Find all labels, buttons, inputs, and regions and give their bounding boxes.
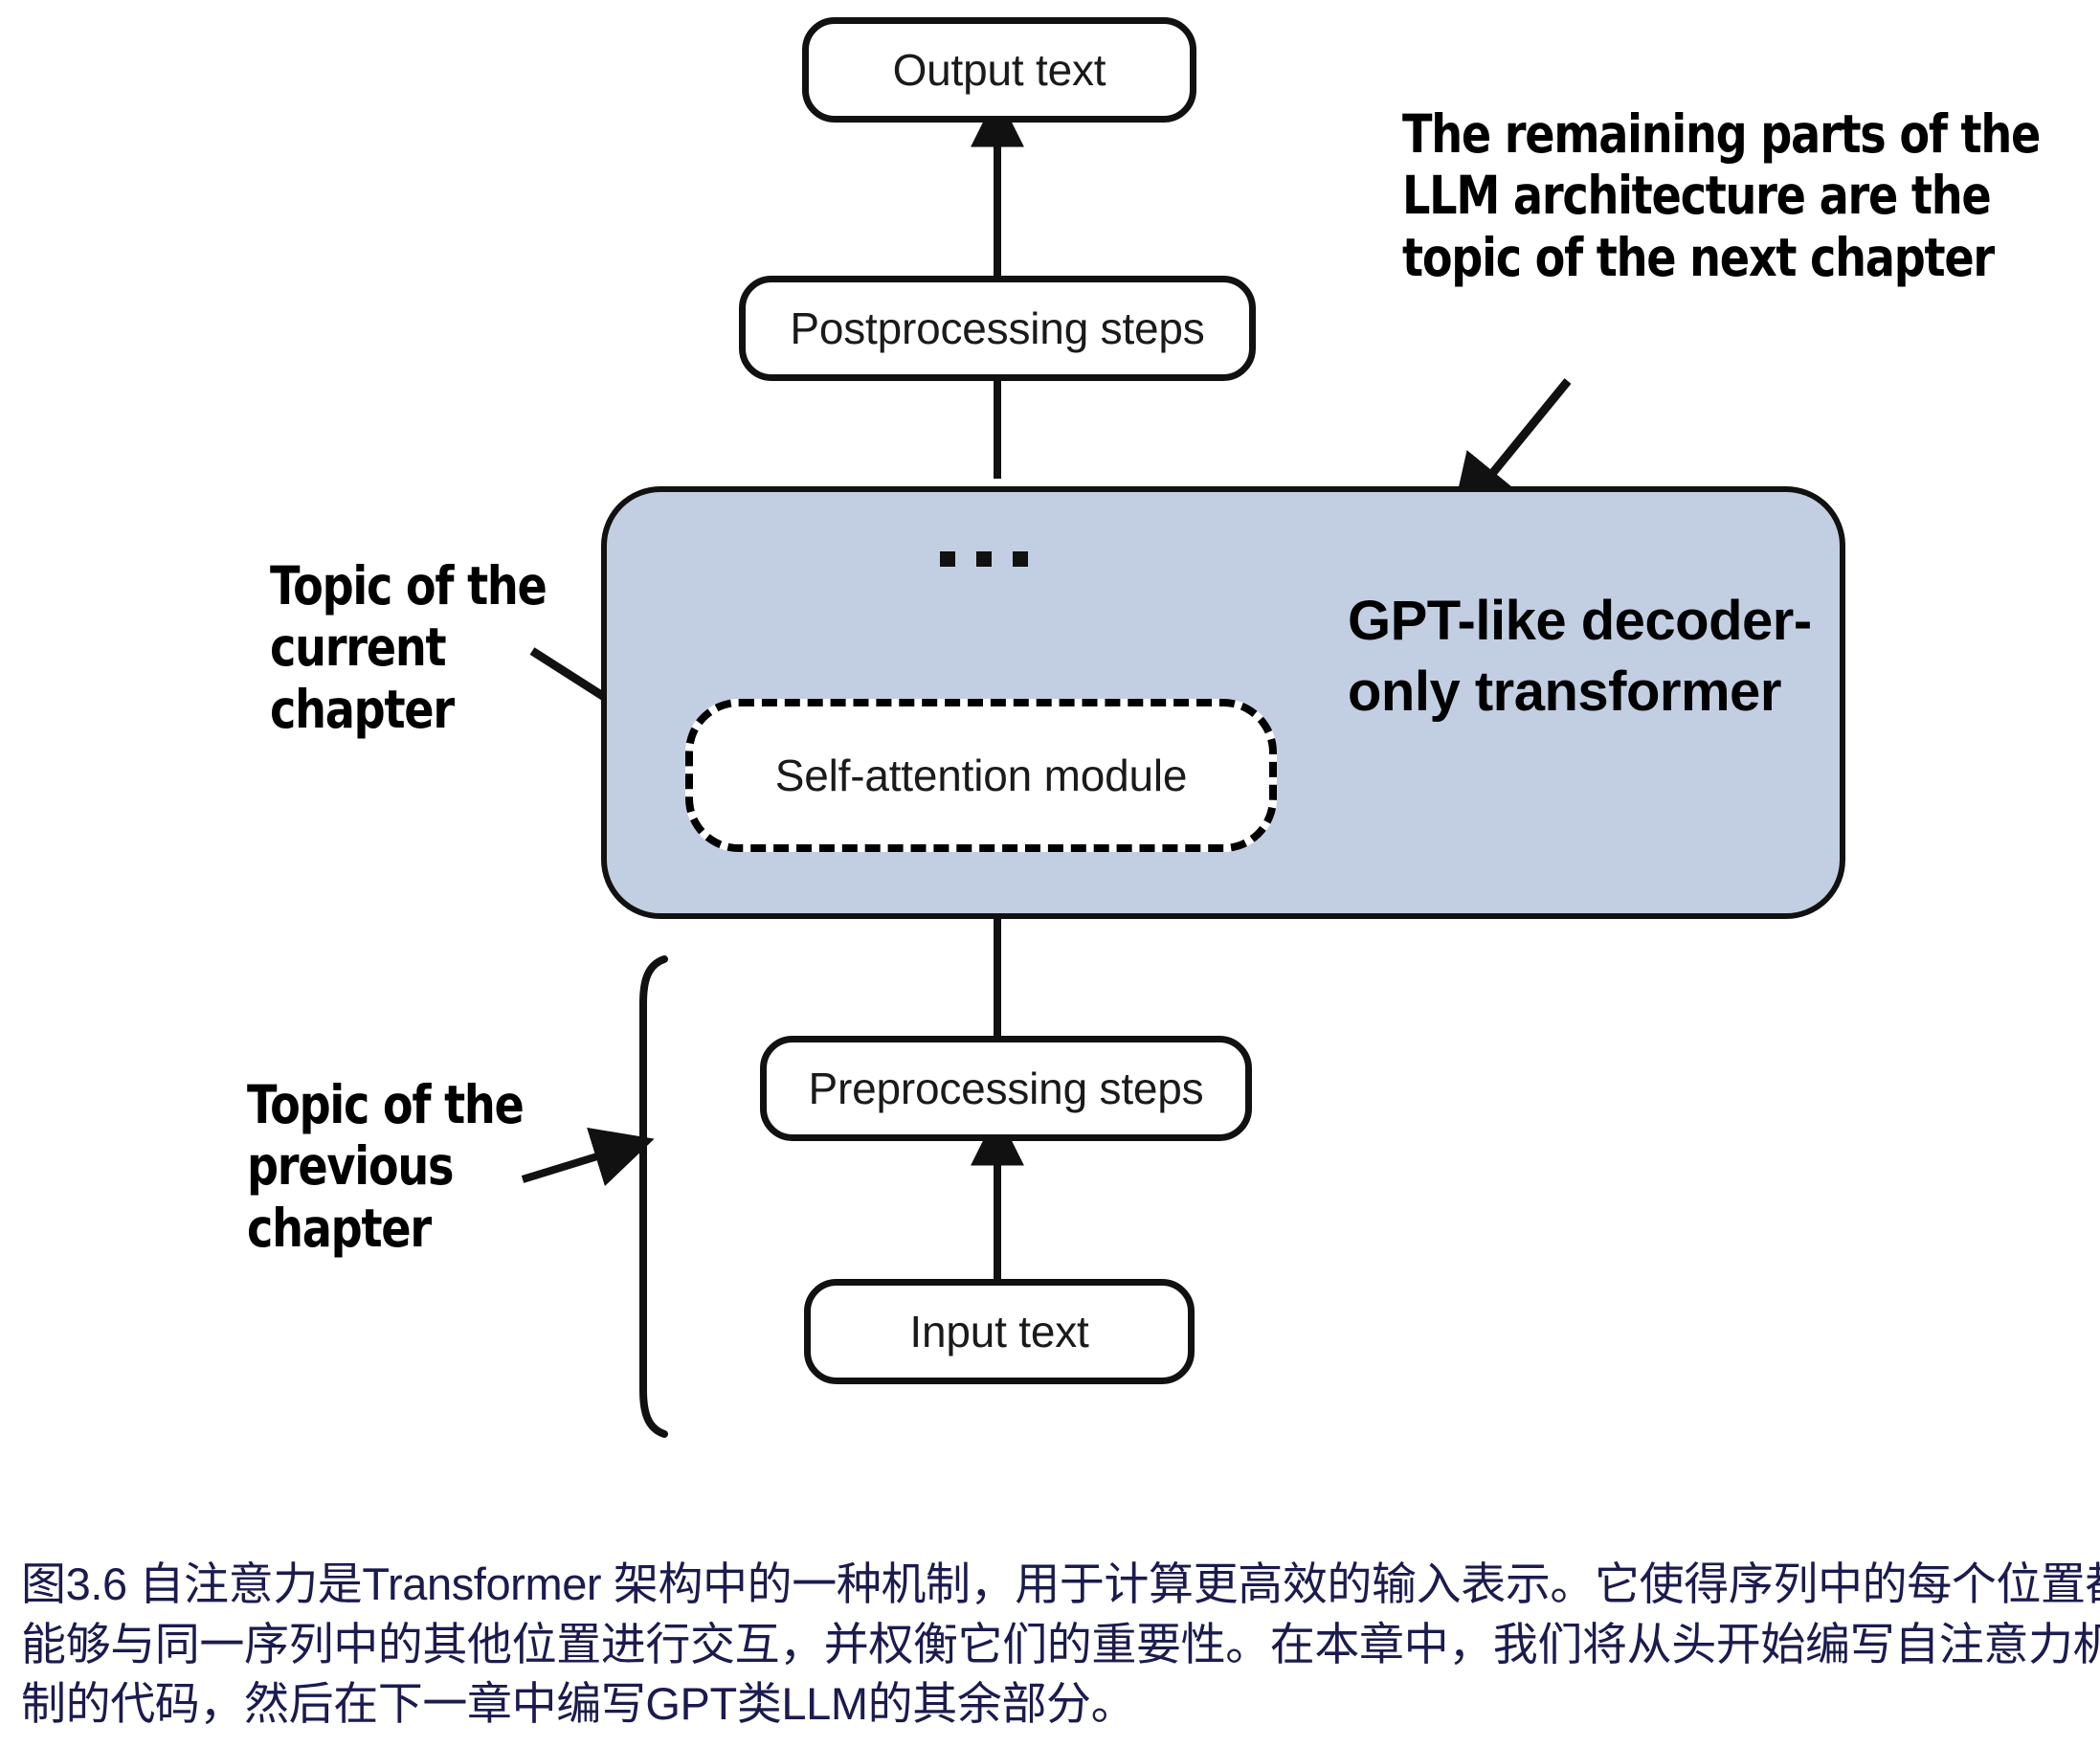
caption-line-2: 能够与同一序列中的其他位置进行交互，并权衡它们的重要性。在本章中，我们将从头开始…: [21, 1615, 2089, 1675]
leader-next-chapter: [1474, 381, 1568, 496]
ellipsis-dot: [1013, 551, 1028, 567]
figure-caption: 图3.6 自注意力是Transformer 架构中的一种机制，用于计算更高效的输…: [21, 1555, 2089, 1735]
annotation-next-chapter: The remaining parts of the LLM architect…: [1402, 103, 2100, 288]
annotation-previous-chapter: Topic of the previous chapter: [247, 1074, 649, 1259]
node-preprocessing-steps: Preprocessing steps: [760, 1036, 1252, 1141]
node-self-attention-module: Self-attention module: [685, 699, 1277, 852]
node-output-text: Output text: [802, 17, 1196, 123]
node-input-text: Input text: [804, 1279, 1195, 1384]
vertical-ellipsis-icon: [940, 551, 1028, 567]
annotation-current-chapter: Topic of the current chapter: [270, 555, 672, 740]
caption-line-1: 图3.6 自注意力是Transformer 架构中的一种机制，用于计算更高效的输…: [21, 1555, 2089, 1615]
figure-diagram: GPT-like decoder-only transformer Output…: [0, 0, 2100, 1532]
node-postprocessing-steps: Postprocessing steps: [739, 276, 1256, 381]
caption-line-3: 制的代码，然后在下一章中编写GPT类LLM的其余部分。: [21, 1674, 2089, 1735]
ellipsis-dot: [976, 551, 992, 567]
transformer-block-label: GPT-like decoder-only transformer: [1348, 586, 1845, 727]
ellipsis-dot: [940, 551, 955, 567]
